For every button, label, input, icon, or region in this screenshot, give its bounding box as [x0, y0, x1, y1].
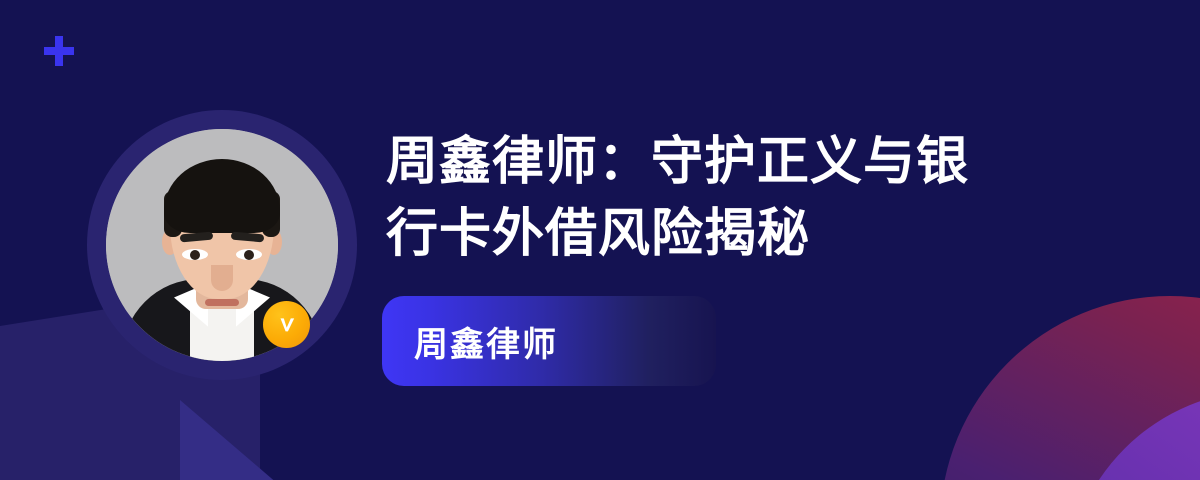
avatar-eye-left [182, 249, 208, 260]
decor-circle-crimson [940, 296, 1200, 480]
avatar-nose [211, 265, 233, 291]
decor-triangle-wedge [180, 400, 320, 480]
author-name-label: 周鑫律师 [414, 317, 558, 366]
decor-block-bottom-left-secondary [0, 368, 210, 480]
avatar-pupil-right [244, 250, 254, 260]
author-name-pill[interactable]: 周鑫律师 [382, 296, 716, 386]
verified-badge-icon[interactable] [263, 301, 310, 348]
avatar-eye-right [236, 249, 262, 260]
plus-icon [44, 36, 74, 66]
plus-icon-bar-vertical [55, 36, 63, 66]
avatar[interactable] [87, 110, 357, 380]
page-title: 周鑫律师：守护正义与银 行卡外借风险揭秘 [386, 126, 1086, 270]
avatar-mouth [205, 299, 239, 306]
article-cover-card: 周鑫律师：守护正义与银 行卡外借风险揭秘 周鑫律师 [0, 0, 1200, 480]
avatar-pupil-left [190, 250, 200, 260]
decor-circle-purple [1066, 390, 1200, 480]
